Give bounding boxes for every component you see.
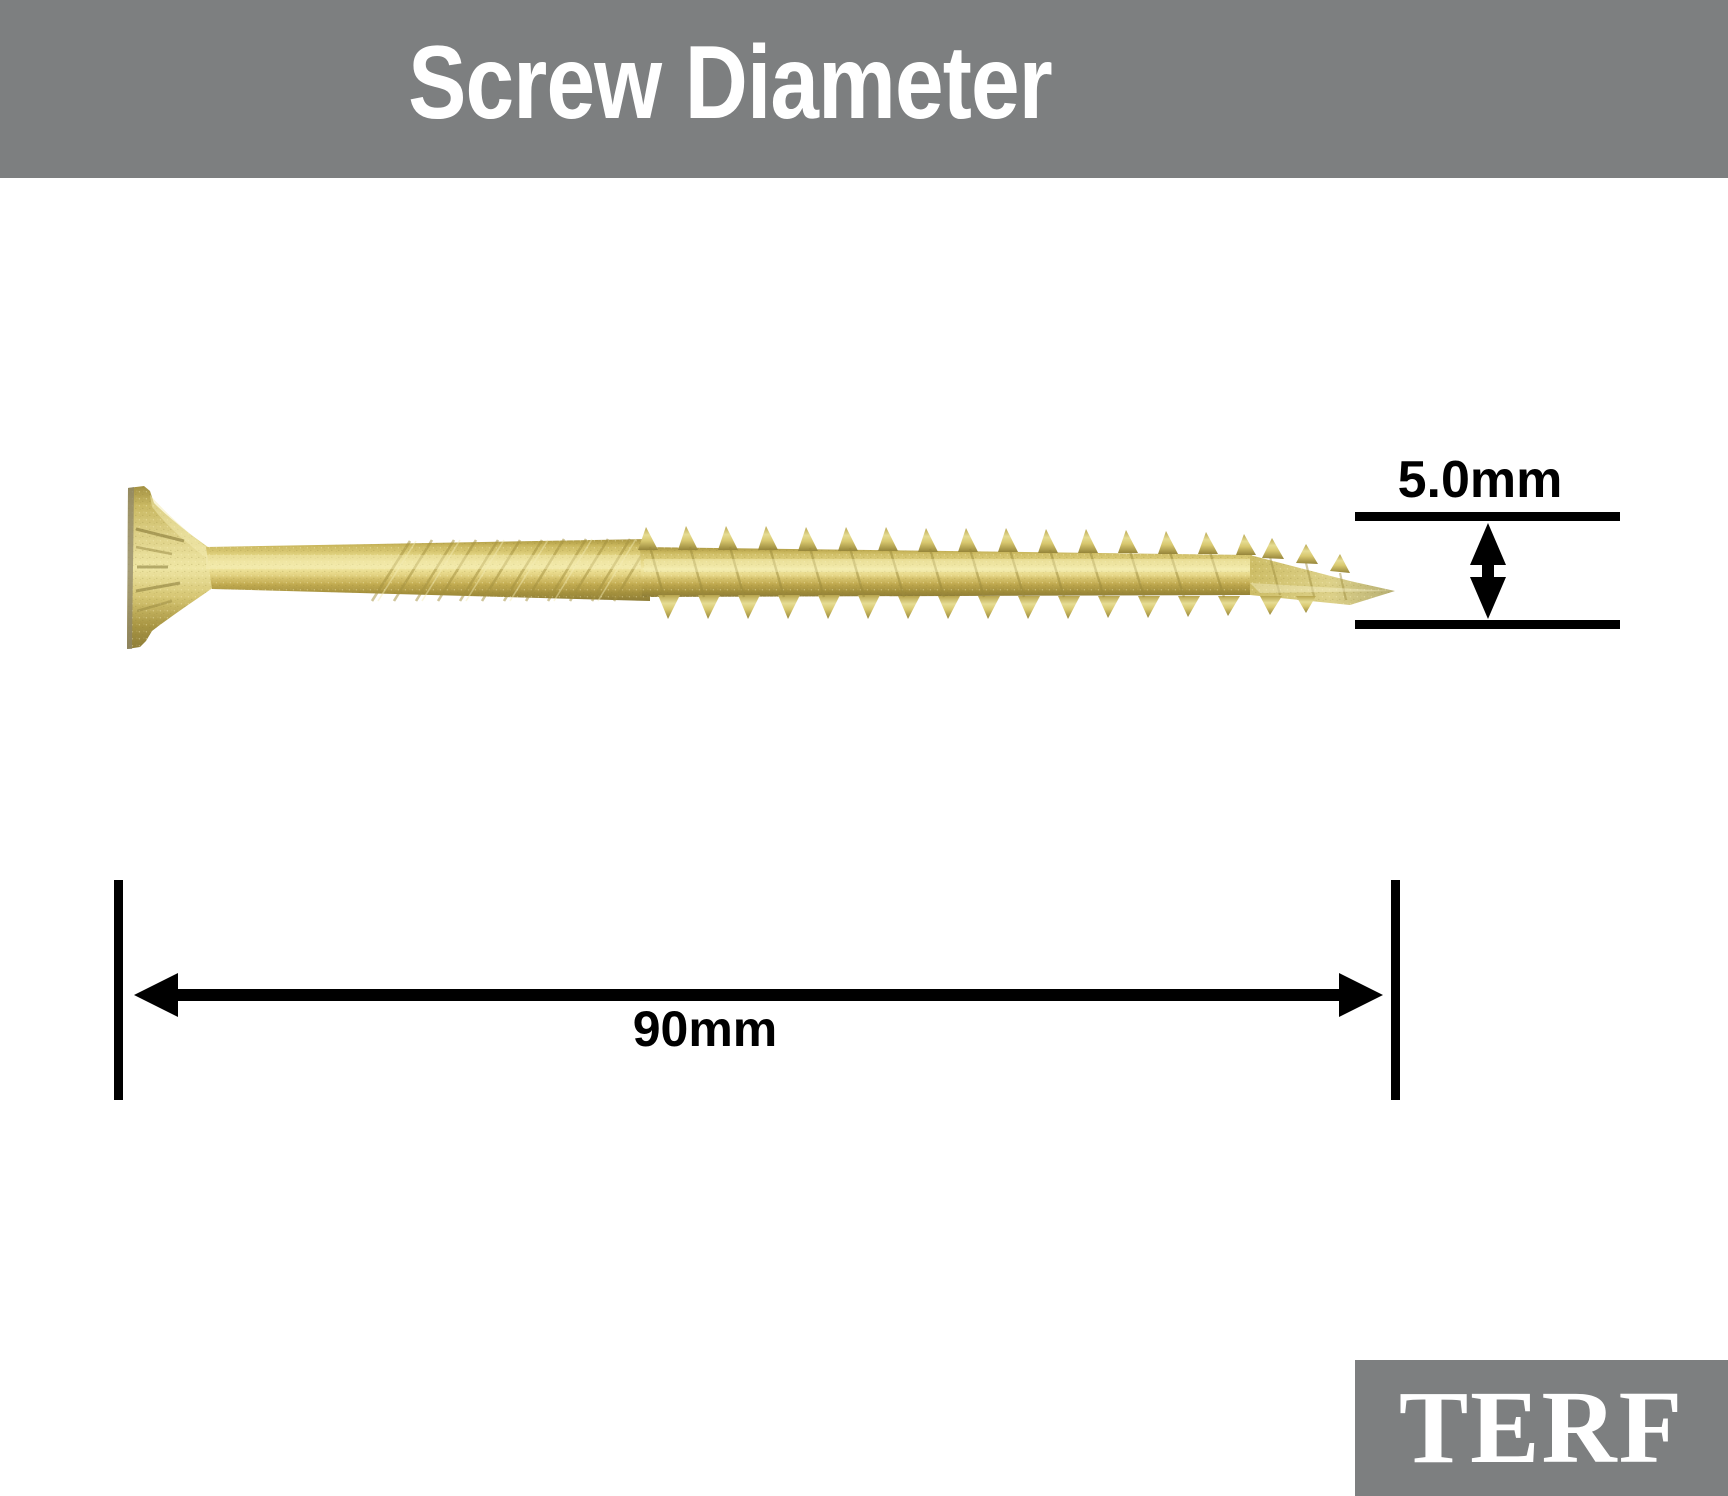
brand-logo: TERF xyxy=(1355,1360,1728,1496)
length-dimension: 90mm xyxy=(100,880,1430,1110)
diameter-reference-line-bottom xyxy=(1355,620,1620,629)
diameter-label: 5.0mm xyxy=(1340,452,1620,508)
thread-crests-bottom xyxy=(658,595,1240,619)
screw-illustration xyxy=(110,455,1430,685)
diameter-callout: 5.0mm xyxy=(1340,455,1640,655)
screw-vector xyxy=(110,455,1430,685)
screw-diagram-canvas: Screw Diameter xyxy=(0,0,1728,1496)
extension-tick-right xyxy=(1391,880,1400,1100)
header-band: Screw Diameter xyxy=(0,0,1728,178)
brand-name: TERF xyxy=(1355,1360,1728,1496)
screw-shank xyxy=(206,539,652,601)
extension-tick-left xyxy=(114,880,123,1100)
length-label: 90mm xyxy=(100,1000,1310,1058)
screw-threads xyxy=(638,526,1256,619)
double-headed-vertical-arrow-icon xyxy=(1458,521,1518,621)
diameter-reference-line-top xyxy=(1355,512,1620,521)
screw-head xyxy=(127,486,214,649)
page-title: Screw Diameter xyxy=(117,8,1343,158)
